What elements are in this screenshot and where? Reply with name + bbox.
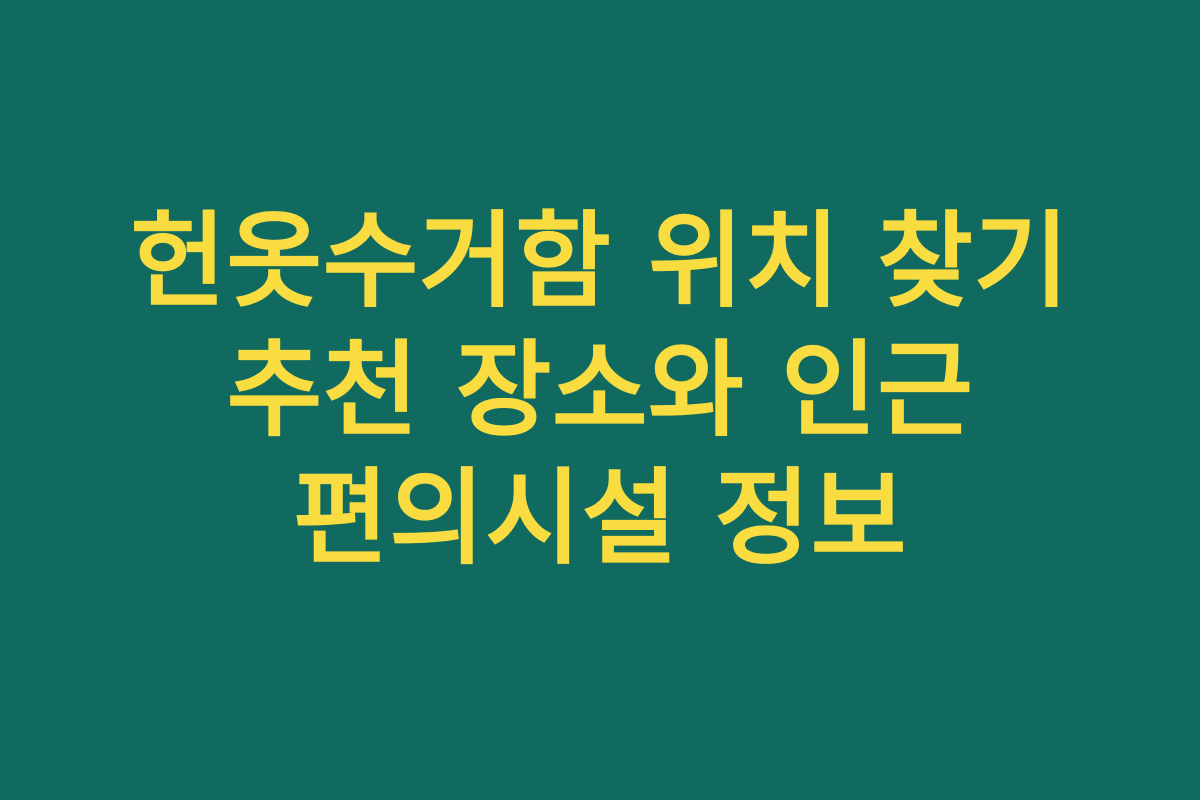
article-thumbnail-card: 헌옷수거함 위치 찾기 추천 장소와 인근 편의시설 정보 bbox=[0, 0, 1200, 800]
headline-block: 헌옷수거함 위치 찾기 추천 장소와 인근 편의시설 정보 bbox=[70, 197, 1130, 584]
page-title: 헌옷수거함 위치 찾기 추천 장소와 인근 편의시설 정보 bbox=[70, 197, 1130, 584]
